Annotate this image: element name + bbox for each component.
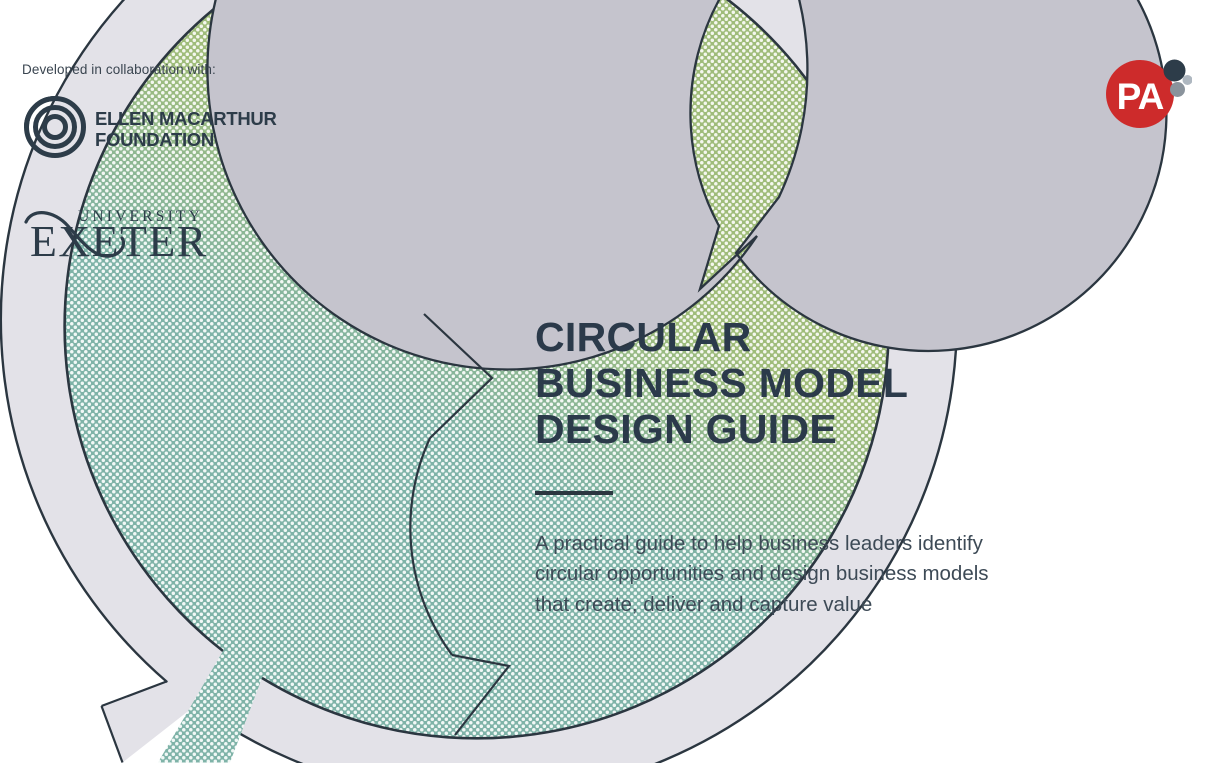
title-line-3: DESIGN GUIDE — [535, 406, 837, 452]
pa-consulting-logo: PA — [1102, 52, 1192, 132]
page-subtitle: A practical guide to help business leade… — [535, 529, 1005, 621]
title-divider — [535, 491, 613, 495]
collaboration-block: Developed in collaboration with: ELLEN M… — [22, 62, 282, 262]
ellen-macarthur-foundation-logo: ELLEN MACARTHUR FOUNDATION — [24, 96, 282, 158]
pa-dot-mid — [1170, 82, 1185, 97]
title-line-2: BUSINESS MODEL — [535, 360, 908, 406]
pa-wordmark: PA — [1117, 76, 1164, 117]
concentric-spiral-icon — [27, 99, 84, 156]
emf-wordmark: ELLEN MACARTHUR FOUNDATION — [95, 108, 277, 150]
pa-dot-dark — [1164, 60, 1186, 82]
title-line-1: CIRCULAR — [535, 314, 752, 360]
page-title: CIRCULAR BUSINESS MODEL DESIGN GUIDE — [535, 315, 1005, 453]
svg-text:ELLEN MACARTHUR: ELLEN MACARTHUR — [95, 108, 277, 129]
pa-dot-light — [1183, 75, 1193, 85]
svg-text:EXETER: EXETER — [30, 217, 206, 262]
collaboration-label: Developed in collaboration with: — [22, 62, 282, 78]
svg-text:FOUNDATION: FOUNDATION — [95, 129, 214, 150]
title-block: CIRCULAR BUSINESS MODEL DESIGN GUIDE A p… — [535, 315, 1005, 621]
university-of-exeter-logo: UNIVERSITY OF EXETER — [22, 200, 206, 262]
cover-page: Developed in collaboration with: ELLEN M… — [0, 0, 1226, 763]
